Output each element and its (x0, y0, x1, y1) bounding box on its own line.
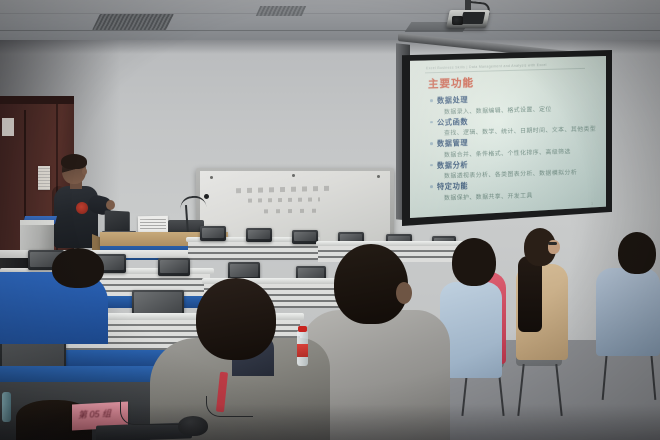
tower-top (20, 220, 54, 225)
presenter-hair (61, 154, 87, 169)
whiteboard-line-1 (236, 186, 332, 194)
ceiling-vent-secondary-icon (256, 6, 306, 16)
projector-body (461, 12, 486, 24)
chair-leg (517, 364, 524, 416)
presenter-shirt-logo (76, 202, 88, 214)
microphone-icon (204, 194, 209, 199)
monitor-screen (294, 232, 316, 241)
desk-cable (120, 400, 181, 425)
presenter-ear (82, 168, 87, 175)
attendee-head (52, 248, 104, 288)
partition-rail (316, 241, 470, 246)
ceiling-vent-icon (92, 14, 174, 30)
attendee-ear (396, 282, 412, 304)
screen-gloss (410, 56, 606, 218)
monitor-screen (230, 264, 258, 277)
attendee-head (618, 232, 656, 274)
whiteboard-line-2 (248, 197, 320, 202)
attendee-head (196, 278, 276, 360)
paper-stack (138, 216, 168, 234)
desk-cable-secondary (206, 396, 253, 417)
pink-desk-label-text: 第 05 组 (78, 406, 111, 421)
whiteboard-mount-3 (292, 174, 295, 177)
notice-text-lines (38, 168, 50, 192)
attendee-hair (518, 256, 542, 332)
monitor-screen (160, 260, 188, 273)
whiteboard-line-3 (264, 209, 324, 214)
presenter-hand (106, 200, 115, 210)
whiteboard-writing (236, 187, 356, 221)
attendee-head (334, 244, 408, 324)
whiteboard-mount-1 (210, 176, 213, 179)
ceiling-seam (0, 30, 660, 31)
attendee-head (452, 238, 496, 286)
glasses-icon (548, 242, 557, 245)
water-bottle-secondary (2, 392, 11, 422)
posted-notice-paper (38, 166, 50, 190)
computer-mouse[interactable] (178, 416, 208, 436)
whiteboard-mount-2 (377, 175, 380, 178)
projector-lens-icon (452, 16, 463, 25)
chair-leg (555, 364, 562, 416)
water-bottle-cap-icon (298, 326, 307, 332)
monitor (158, 258, 190, 276)
monitor (200, 226, 226, 241)
attendee-body (596, 268, 660, 356)
monitor (246, 228, 272, 242)
projection-screen: Excel Business Skills | Data Management … (410, 56, 606, 218)
water-bottle-label (297, 344, 308, 357)
paper-text-lines (140, 219, 166, 230)
monitor (292, 230, 318, 244)
monitor-screen (202, 228, 224, 238)
posted-notice-paper-secondary (2, 118, 14, 136)
cabinet-top-edge (0, 96, 74, 104)
classroom-scene: Excel Business Skills | Data Management … (0, 0, 660, 440)
monitor-screen (248, 230, 270, 239)
